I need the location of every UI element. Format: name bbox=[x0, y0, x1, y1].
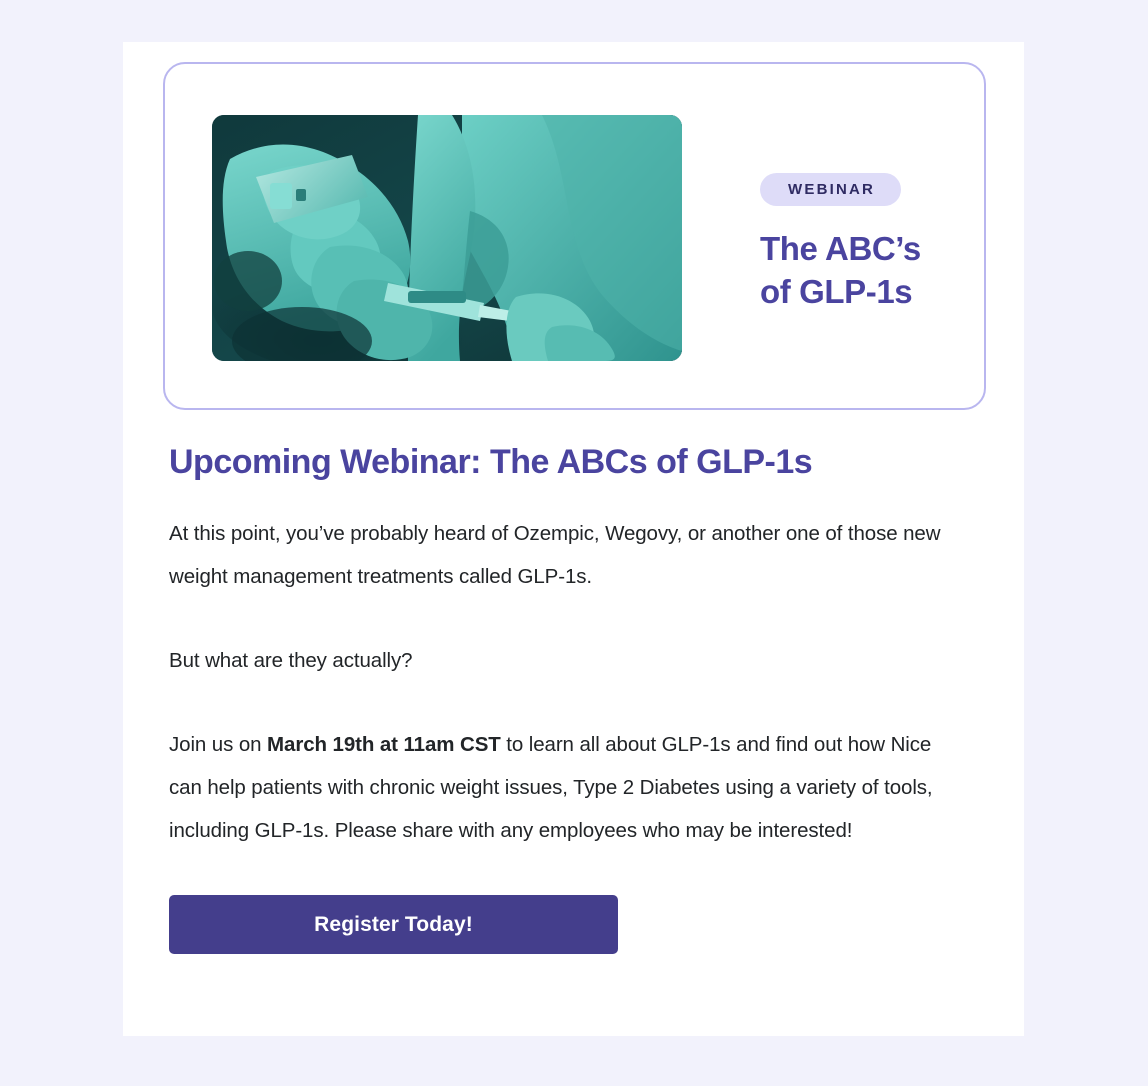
injection-pen-photo bbox=[212, 115, 682, 361]
paragraph-3-lead: Join us on bbox=[169, 733, 267, 756]
banner-title: The ABC’s of GLP-1s bbox=[760, 228, 970, 314]
register-today-button[interactable]: Register Today! bbox=[169, 895, 618, 954]
webinar-banner: WEBINAR The ABC’s of GLP-1s bbox=[163, 62, 986, 410]
page-title: Upcoming Webinar: The ABCs of GLP-1s bbox=[169, 442, 969, 483]
body-paragraph-2: But what are they actually? bbox=[169, 639, 969, 682]
webinar-badge: WEBINAR bbox=[760, 173, 901, 206]
body-paragraph-3: Join us on March 19th at 11am CST to lea… bbox=[169, 723, 969, 852]
email-body: Upcoming Webinar: The ABCs of GLP-1s At … bbox=[169, 442, 969, 954]
banner-text-block: WEBINAR The ABC’s of GLP-1s bbox=[760, 173, 970, 314]
cta-wrapper: Register Today! bbox=[169, 895, 969, 954]
email-card: WEBINAR The ABC’s of GLP-1s Upcoming Web… bbox=[123, 42, 1024, 1036]
body-paragraph-1: At this point, you’ve probably heard of … bbox=[169, 512, 969, 598]
email-page: WEBINAR The ABC’s of GLP-1s Upcoming Web… bbox=[0, 0, 1148, 1086]
banner-inner: WEBINAR The ABC’s of GLP-1s bbox=[165, 64, 984, 408]
webinar-datetime: March 19th at 11am CST bbox=[267, 733, 501, 756]
